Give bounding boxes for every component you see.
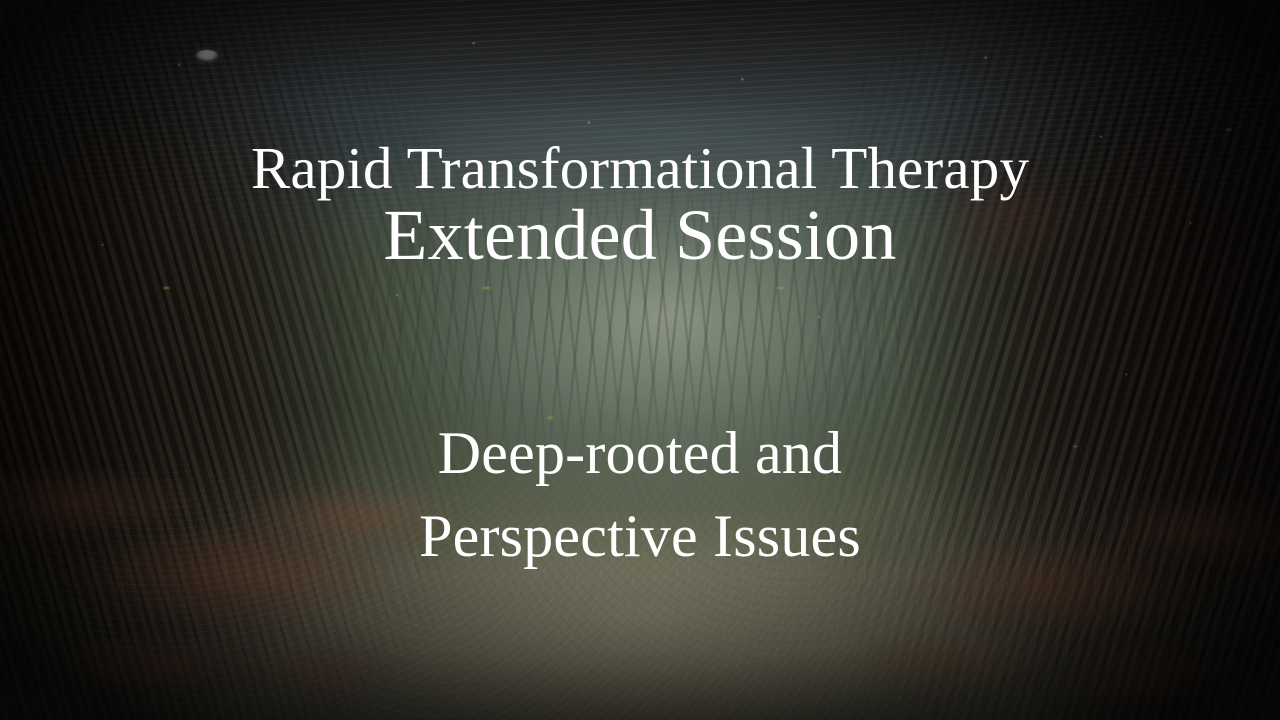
title-line-2: Extended Session (0, 197, 1280, 273)
text-overlay: Rapid Transformational Therapy Extended … (0, 0, 1280, 720)
title-line-1: Rapid Transformational Therapy (0, 138, 1280, 199)
subtitle-line-2: Perspective Issues (0, 495, 1280, 578)
title-slide: Rapid Transformational Therapy Extended … (0, 0, 1280, 720)
slide-subtitle: Deep-rooted and Perspective Issues (0, 412, 1280, 578)
slide-title: Rapid Transformational Therapy Extended … (0, 138, 1280, 274)
subtitle-line-1: Deep-rooted and (0, 412, 1280, 495)
